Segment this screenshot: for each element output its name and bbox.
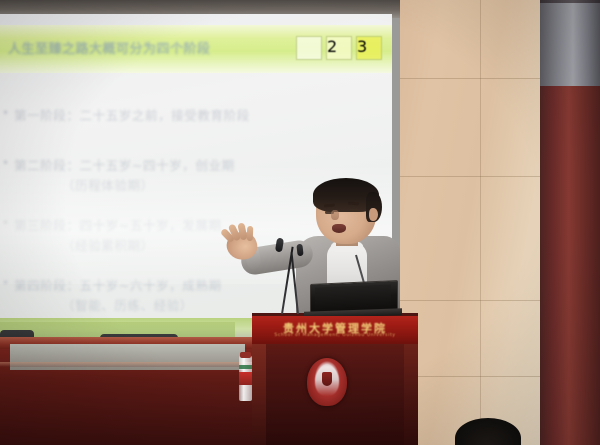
slide-header-tabs: 2 3 — [296, 36, 382, 60]
slide-line-2-sub: （历程体验期） — [62, 175, 154, 194]
speaker-finger-4 — [247, 226, 254, 241]
speaker-ear — [369, 208, 378, 221]
university-emblem-shield — [322, 372, 332, 386]
slide-line-3-sub: （经验累积期） — [62, 235, 154, 254]
slide-line-4-sub: （智能、历练、经验） — [62, 295, 193, 314]
slide-line-3: 第三阶段：四十岁~五十岁，发展期 — [14, 215, 222, 234]
laptop-screen — [315, 284, 391, 308]
podium-banner: 贵州大学管理学院 School of Management, Guizhou U… — [252, 316, 418, 344]
slide-bullet-3: • — [2, 216, 9, 230]
slide-tab-3: 3 — [356, 36, 382, 60]
slide-bullet-2: • — [2, 156, 9, 170]
water-bottle-label — [239, 372, 252, 385]
speaker-mouth — [332, 224, 346, 233]
lecture-photo: 人生至臻之路大概可分为四个阶段 2 3 • 第一阶段：二十五岁之前，接受教育阶段… — [0, 0, 600, 445]
slide-bullet-4: • — [2, 276, 9, 290]
water-bottle-cap — [240, 352, 251, 358]
microphone-right-icon — [296, 244, 303, 257]
podium-left-panel — [252, 344, 266, 445]
slide-bullet-1: • — [2, 106, 9, 120]
podium-right-panel — [404, 344, 418, 445]
slide-line-2: 第二阶段：二十五岁~四十岁，创业期 — [14, 155, 235, 174]
podium-banner-english: School of Management, Guizhou University — [252, 333, 418, 338]
curtain-seam — [540, 0, 600, 3]
slide-tab-2: 2 — [326, 36, 352, 60]
slide-line-1: 第一阶段：二十五岁之前，接受教育阶段 — [14, 105, 250, 124]
water-bottle-stripe — [239, 365, 252, 369]
speaker-eye-right — [349, 209, 358, 212]
slide-line-4: 第四阶段：五十岁~六十岁，成熟期 — [14, 275, 222, 294]
wall-upper-right — [540, 0, 600, 86]
slide-title: 人生至臻之路大概可分为四个阶段 — [8, 38, 268, 57]
slide-tab-1 — [296, 36, 322, 60]
speaker-nose — [331, 210, 339, 220]
